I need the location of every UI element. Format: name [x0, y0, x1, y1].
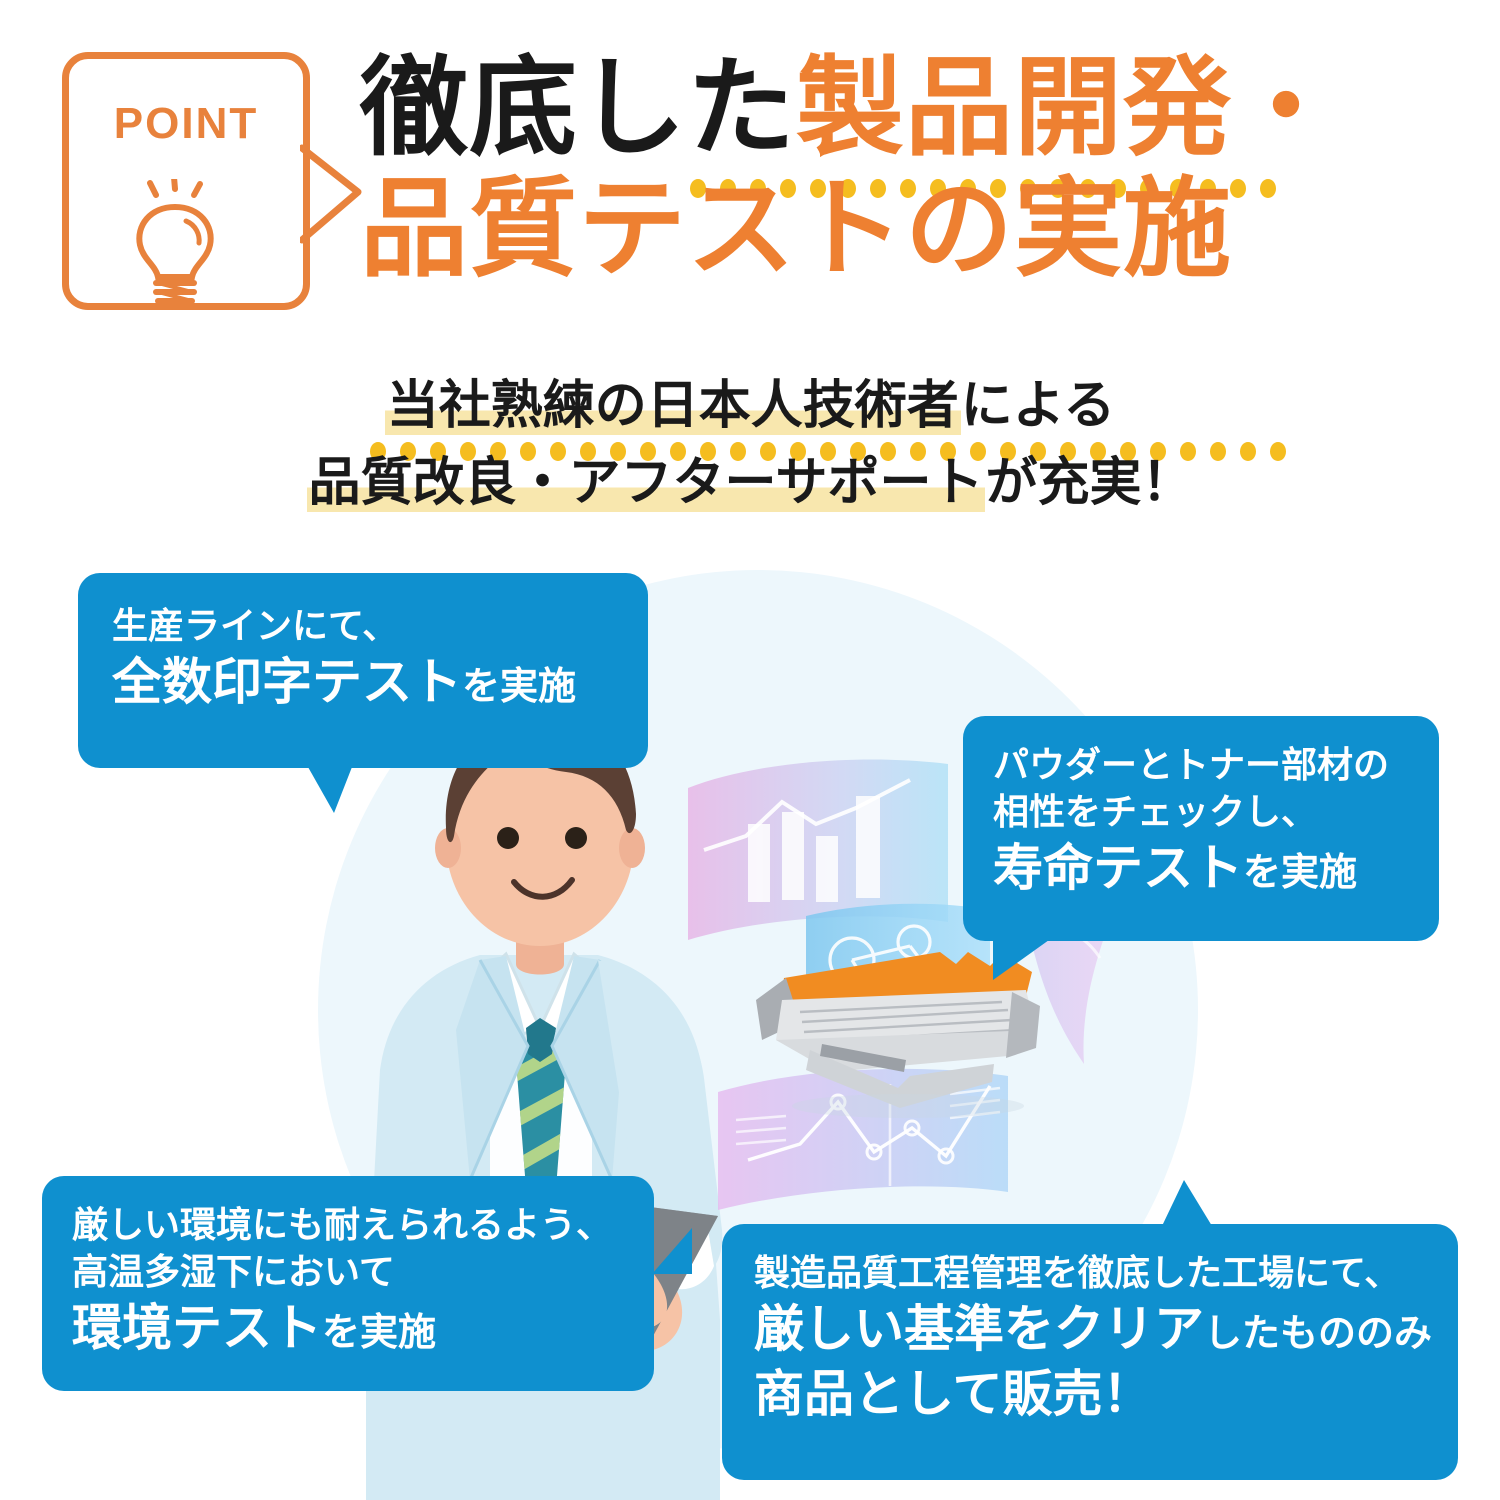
bubble-print-test-line-2-bold: 全数印字テスト — [112, 654, 462, 710]
bubble-print-test-line-1: 生産ラインにて、 — [112, 603, 614, 650]
bubble-environment-test-line-3-tail: を実施 — [322, 1312, 436, 1354]
subtitle-line-2: 品質改良・アフターサポートが充実！ — [0, 445, 1500, 522]
bubble-environment-test-line-3: 環境テストを実施 — [72, 1296, 624, 1361]
bubble-lifespan-test-tail — [993, 940, 1049, 980]
heading-line-2: 品質テストの実施 — [360, 169, 1360, 290]
bubble-environment-test-line-3-bold: 環境テスト — [72, 1300, 322, 1356]
bubble-factory-quality-line-3-bold: 商品として販売！ — [754, 1366, 1153, 1422]
bubble-factory-quality-line-2-bold: 厳しい基準をクリア — [754, 1301, 1204, 1357]
bubble-lifespan-test-line-3: 寿命テストを実施 — [993, 836, 1409, 901]
bubble-factory-quality-line-2: 厳しい基準をクリアしたもののみ — [754, 1297, 1426, 1362]
subtitle-line-1: 当社熟練の日本人技術者による — [0, 368, 1500, 445]
heading-line-1-black: 徹底した — [360, 47, 796, 168]
bubble-factory-quality-line-2-tail: したもののみ — [1204, 1313, 1432, 1355]
point-badge: POINT — [62, 52, 310, 310]
bubble-factory-quality-line-1: 製造品質工程管理を徹底した工場にて、 — [754, 1250, 1426, 1297]
bubble-lifespan-test: パウダーとトナー部材の 相性をチェックし、 寿命テストを実施 — [963, 716, 1439, 941]
heading-line-1-orange: 製品開発・ — [796, 47, 1341, 168]
bubble-lifespan-test-line-2: 相性をチェックし、 — [993, 789, 1409, 836]
bubble-print-test-tail — [308, 767, 352, 813]
page-title: 徹底した製品開発・ 品質テストの実施 — [360, 48, 1360, 290]
heading-line-1: 徹底した製品開発・ — [360, 48, 1360, 169]
lightbulb-icon — [126, 179, 246, 314]
heading-line-2-orange: 品質テストの実施 — [360, 168, 1232, 289]
infographic-canvas: POINT — [0, 0, 1500, 1500]
subtitle: 当社熟練の日本人技術者による 品質改良・アフターサポートが充実！ — [0, 368, 1500, 522]
bubble-factory-quality-tail — [1162, 1180, 1212, 1226]
point-label: POINT — [69, 99, 303, 149]
bubble-lifespan-test-line-3-bold: 寿命テスト — [993, 840, 1243, 896]
bubble-print-test-line-2: 全数印字テストを実施 — [112, 650, 614, 715]
bubble-environment-test: 厳しい環境にも耐えられるよう、 高温多湿下において 環境テストを実施 — [42, 1176, 654, 1391]
illustration-area: 生産ラインにて、 全数印字テストを実施 パウダーとトナー部材の 相性をチェックし… — [0, 540, 1500, 1500]
bubble-lifespan-test-line-3-tail: を実施 — [1243, 852, 1357, 894]
bubble-environment-test-line-2: 高温多湿下において — [72, 1249, 624, 1296]
subtitle-line-2-highlight: 品質改良・アフターサポート — [307, 454, 986, 512]
bubble-environment-test-tail — [652, 1228, 692, 1274]
subtitle-line-2-tail: が充実！ — [985, 454, 1193, 512]
subtitle-line-1-tail: による — [961, 377, 1115, 435]
bubble-factory-quality-line-3: 商品として販売！ — [754, 1362, 1426, 1427]
subtitle-line-1-highlight: 当社熟練の日本人技術者 — [385, 377, 961, 435]
bubble-factory-quality: 製造品質工程管理を徹底した工場にて、 厳しい基準をクリアしたもののみ 商品として… — [722, 1224, 1458, 1480]
bubble-print-test: 生産ラインにて、 全数印字テストを実施 — [78, 573, 648, 768]
bubble-lifespan-test-line-1: パウダーとトナー部材の — [993, 742, 1409, 789]
bubble-environment-test-line-1: 厳しい環境にも耐えられるよう、 — [72, 1202, 624, 1249]
bubble-print-test-line-2-tail: を実施 — [462, 666, 576, 708]
badge-speech-tail — [300, 140, 370, 255]
